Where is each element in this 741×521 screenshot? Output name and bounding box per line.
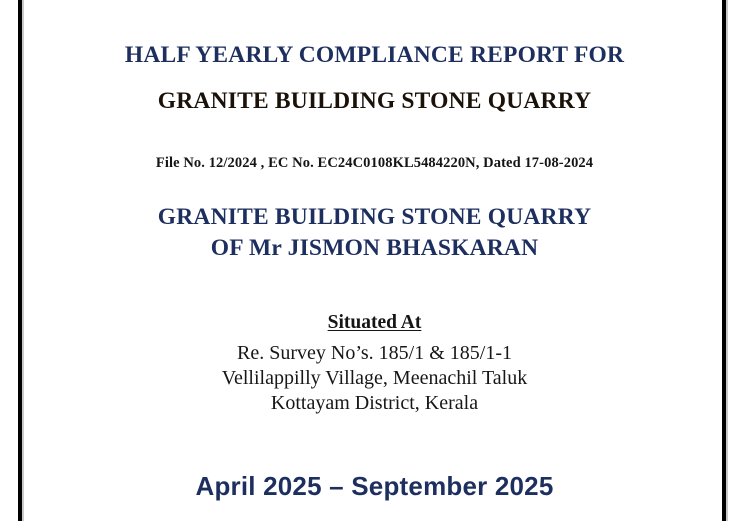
page-border-left (18, 0, 22, 521)
situated-at-label: Situated At (328, 312, 422, 333)
situated-at-heading: Situated At (24, 312, 725, 334)
site-address-block: Re. Survey No’s. 185/1 & 185/1-1 Vellila… (24, 341, 725, 416)
document-cover-page: HALF YEARLY COMPLIANCE REPORT FOR GRANIT… (0, 0, 741, 521)
project-title-line-1: GRANITE BUILDING STONE QUARRY (24, 202, 725, 233)
address-line-district: Kottayam District, Kerala (24, 391, 725, 416)
cover-content: HALF YEARLY COMPLIANCE REPORT FOR GRANIT… (24, 0, 725, 521)
report-title-line-2: GRANITE BUILDING STONE QUARRY (24, 88, 725, 115)
project-title-block: GRANITE BUILDING STONE QUARRY OF Mr JISM… (24, 202, 725, 264)
report-title-line-1: HALF YEARLY COMPLIANCE REPORT FOR (24, 42, 725, 69)
reference-number-line: File No. 12/2024 , EC No. EC24C0108KL548… (24, 155, 725, 172)
address-line-survey: Re. Survey No’s. 185/1 & 185/1-1 (24, 341, 725, 366)
project-owner-line: OF Mr JISMON BHASKARAN (24, 233, 725, 264)
reporting-period-label: April 2025 – September 2025 (24, 471, 725, 502)
address-line-village: Vellilappilly Village, Meenachil Taluk (24, 366, 725, 391)
